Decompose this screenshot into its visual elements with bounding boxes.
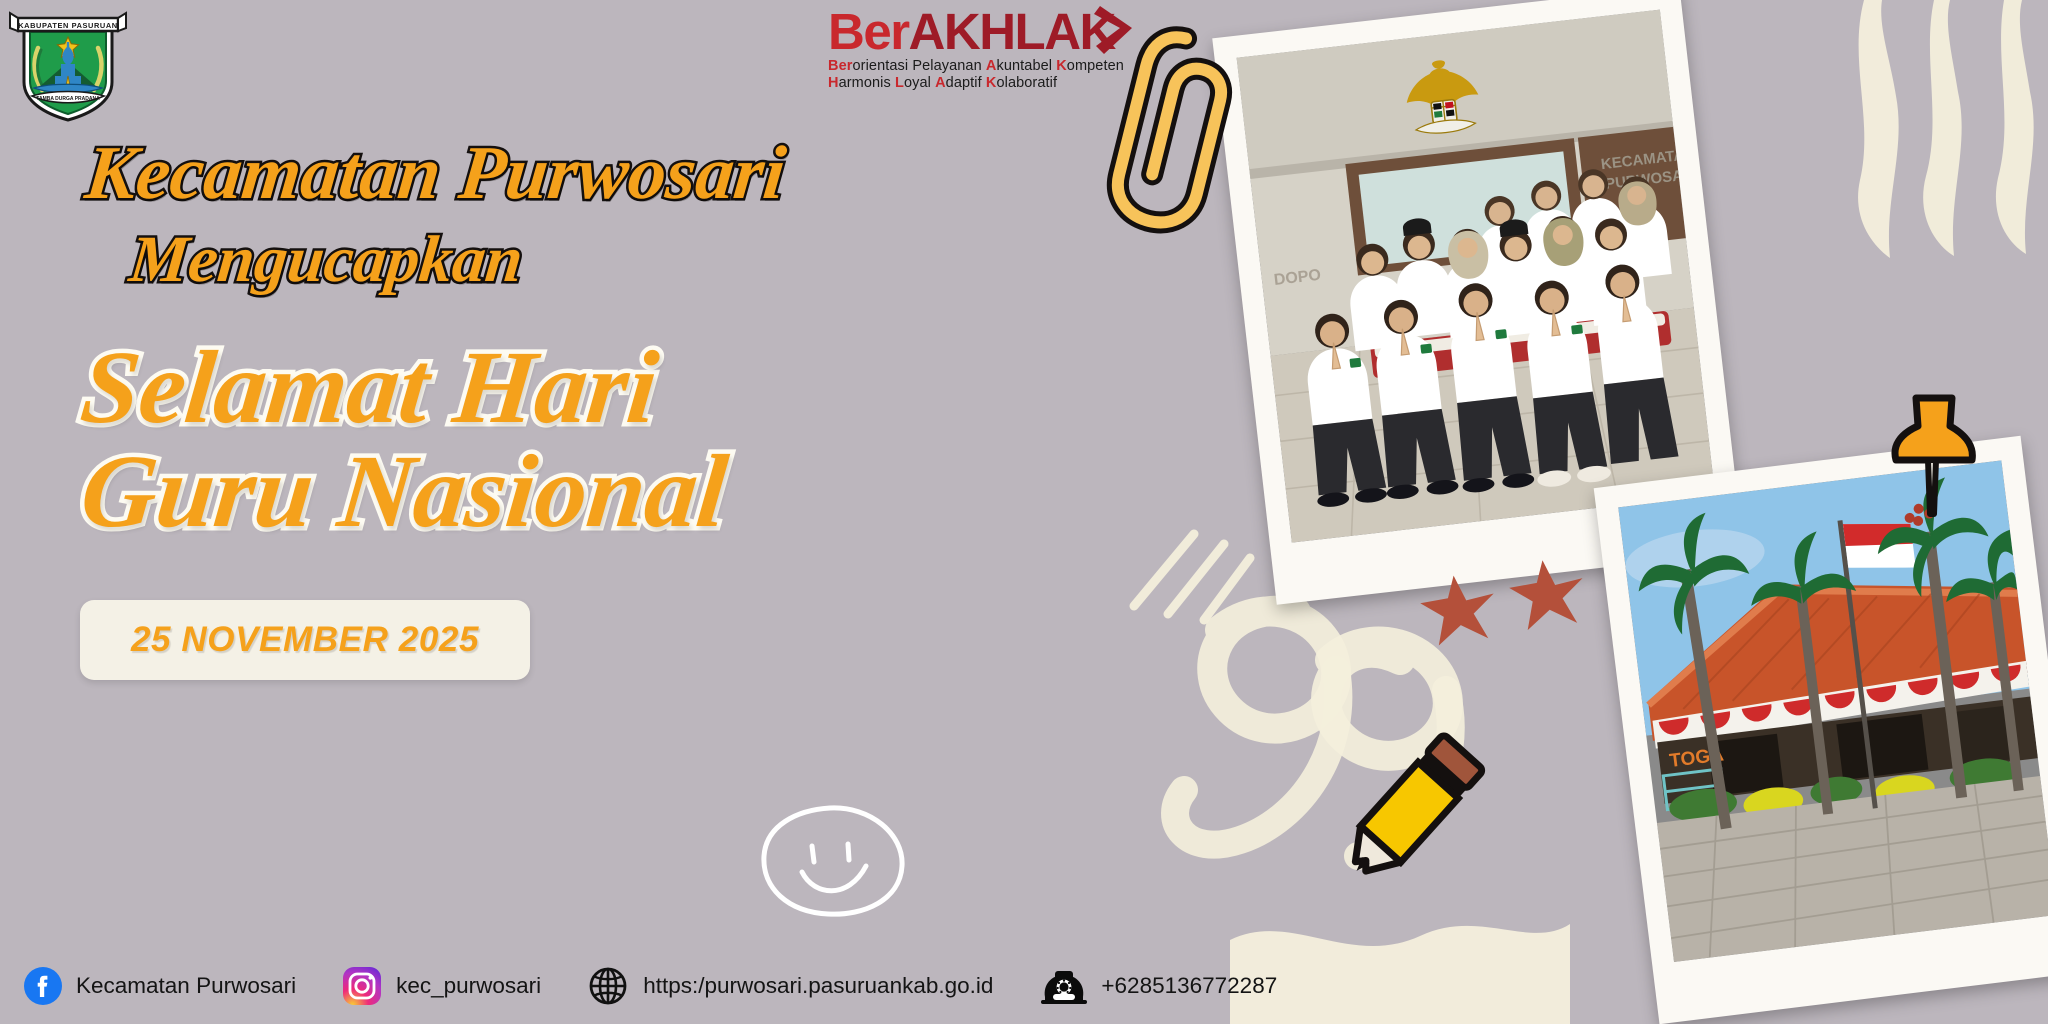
berakhlak-prefix: Ber: [828, 3, 909, 60]
footer-label-instagram: kec_purwosari: [396, 973, 541, 999]
background-paint-swatch-bottom: [1230, 880, 1570, 1024]
crest-motto-text: TAMBA DURGA PRADANA: [36, 96, 100, 102]
facebook-icon: [24, 967, 62, 1005]
footer-item-phone[interactable]: +6285136772287: [1039, 967, 1277, 1005]
berakhlak-tagline-line2: Harmonis Loyal Adaptif Kolaboratif: [828, 75, 1128, 92]
footer-label-website: https:/purwosari.pasuruankab.go.id: [643, 973, 993, 999]
berakhlak-logo: BerAKHLAK Berorientasi Pelayanan Akuntab…: [828, 6, 1128, 92]
headline-line-4: Guru Nasional: [76, 432, 733, 551]
footer-item-website[interactable]: https:/purwosari.pasuruankab.go.id: [587, 965, 993, 1007]
crest-scroll-text: KABUPATEN PASURUAN: [18, 21, 118, 30]
background-speed-lines: [1120, 510, 1260, 630]
kabupaten-pasuruan-crest: KABUPATEN PASURUAN TAMBA DURGA PRADANA: [8, 4, 128, 122]
globe-icon: [587, 965, 629, 1007]
footer-label-facebook: Kecamatan Purwosari: [76, 973, 296, 999]
photo-group-staff-image: KECAMATAN PURWOSARI DOPO: [1237, 10, 1716, 543]
star-doodle: [1409, 550, 1609, 679]
date-badge: 25 NOVEMBER 2025: [80, 600, 530, 680]
pushpin-icon: [1880, 392, 1980, 520]
chevron-right-icon: [1094, 4, 1138, 56]
photo-pendopo-building[interactable]: TOGA: [1594, 436, 2048, 1024]
headline-line-2: Mengucapkan: [126, 222, 526, 298]
smiley-doodle: [752, 800, 912, 920]
date-badge-label: 25 NOVEMBER 2025: [131, 620, 479, 660]
footer-label-phone: +6285136772287: [1101, 973, 1277, 999]
background-paint-swatch-right: [1830, 0, 2048, 260]
berakhlak-tagline-line1: Berorientasi Pelayanan Akuntabel Kompete…: [828, 58, 1128, 75]
banner-canvas: KABUPATEN PASURUAN TAMBA DURGA PRADANA: [0, 0, 2048, 1024]
berakhlak-main: AKHLAK: [909, 3, 1115, 60]
pencil-icon: [1330, 725, 1490, 895]
instagram-icon: [342, 966, 382, 1006]
headline-line-3: Selamat Hari: [76, 328, 663, 447]
headline-line-1: Kecamatan Purwosari: [81, 130, 789, 217]
footer-contact-bar: Kecamatan Purwosari: [24, 964, 1277, 1008]
berakhlak-wordmark: BerAKHLAK: [828, 6, 1128, 58]
footer-item-facebook[interactable]: Kecamatan Purwosari: [24, 967, 296, 1005]
photo-pendopo-image: TOGA: [1618, 460, 2048, 962]
telephone-icon: [1039, 967, 1089, 1005]
footer-item-instagram[interactable]: kec_purwosari: [342, 966, 541, 1006]
